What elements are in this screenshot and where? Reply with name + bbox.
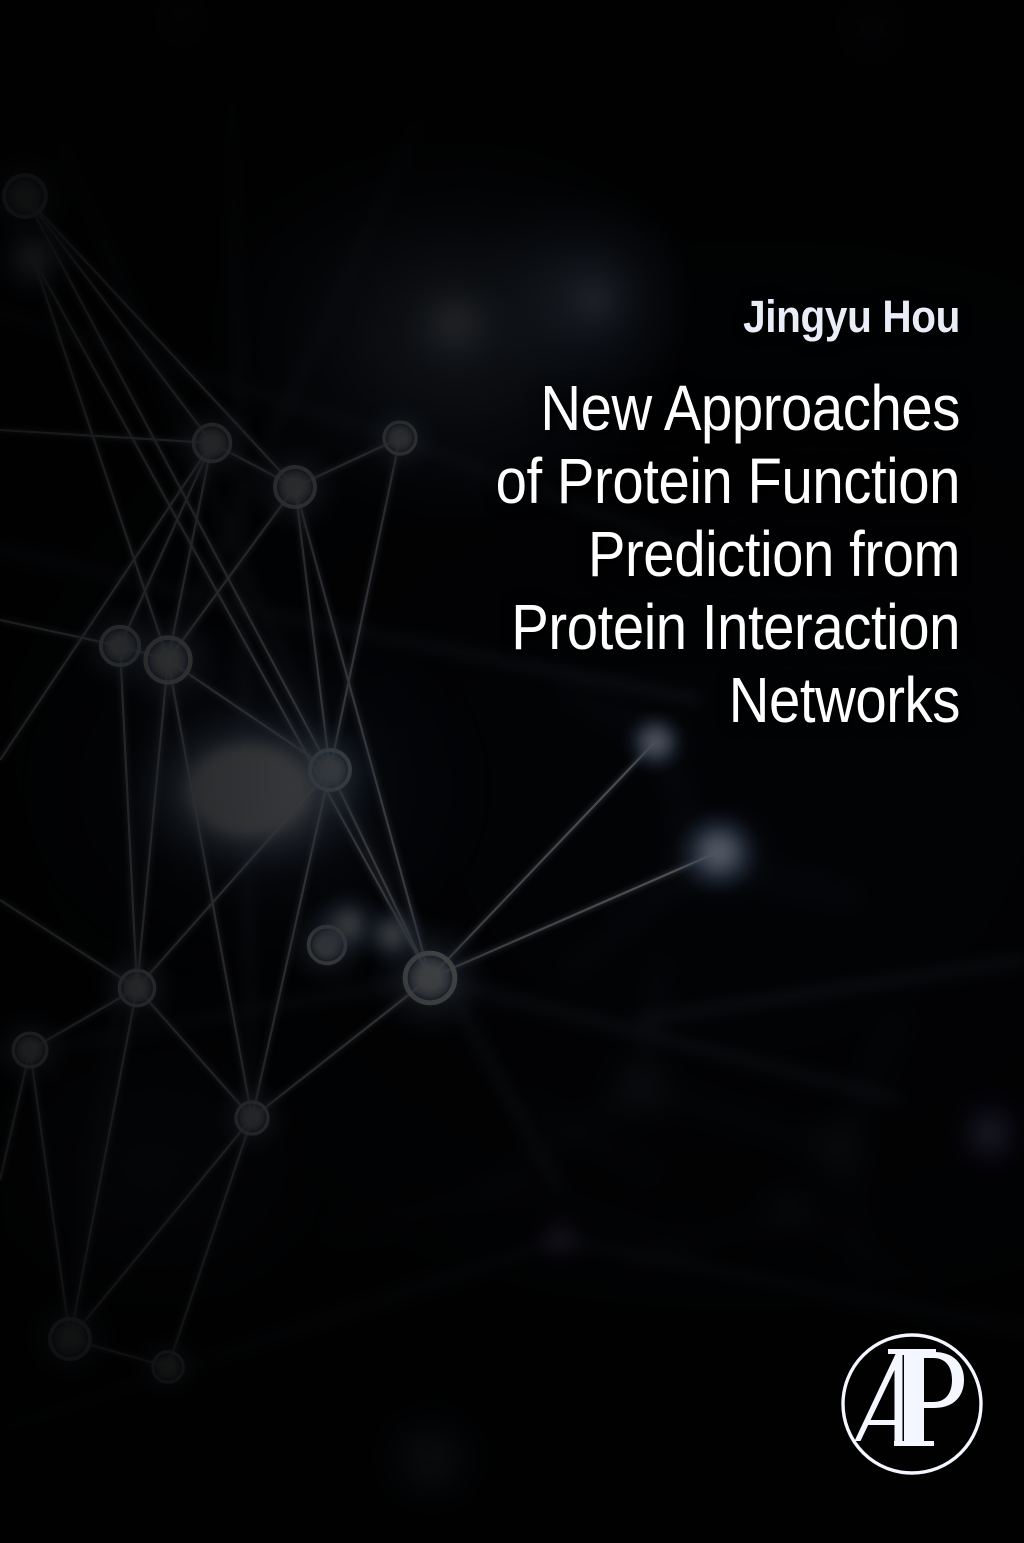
author-name: Jingyu Hou [456,292,960,342]
academic-press-logo [836,1328,988,1480]
title-line-4: Protein Interaction [467,591,960,664]
cover-text-block: Jingyu Hou New Approaches of Protein Fun… [400,292,960,737]
book-title: New Approaches of Protein Function Predi… [467,372,960,737]
logo-monogram-ap [855,1349,965,1446]
book-cover: Jingyu Hou New Approaches of Protein Fun… [0,0,1024,1543]
title-line-3: Prediction from [467,518,960,591]
title-line-1: New Approaches [467,372,960,445]
title-line-2: of Protein Function [467,445,960,518]
title-line-5: Networks [467,664,960,737]
background-vignette [0,0,1024,1543]
